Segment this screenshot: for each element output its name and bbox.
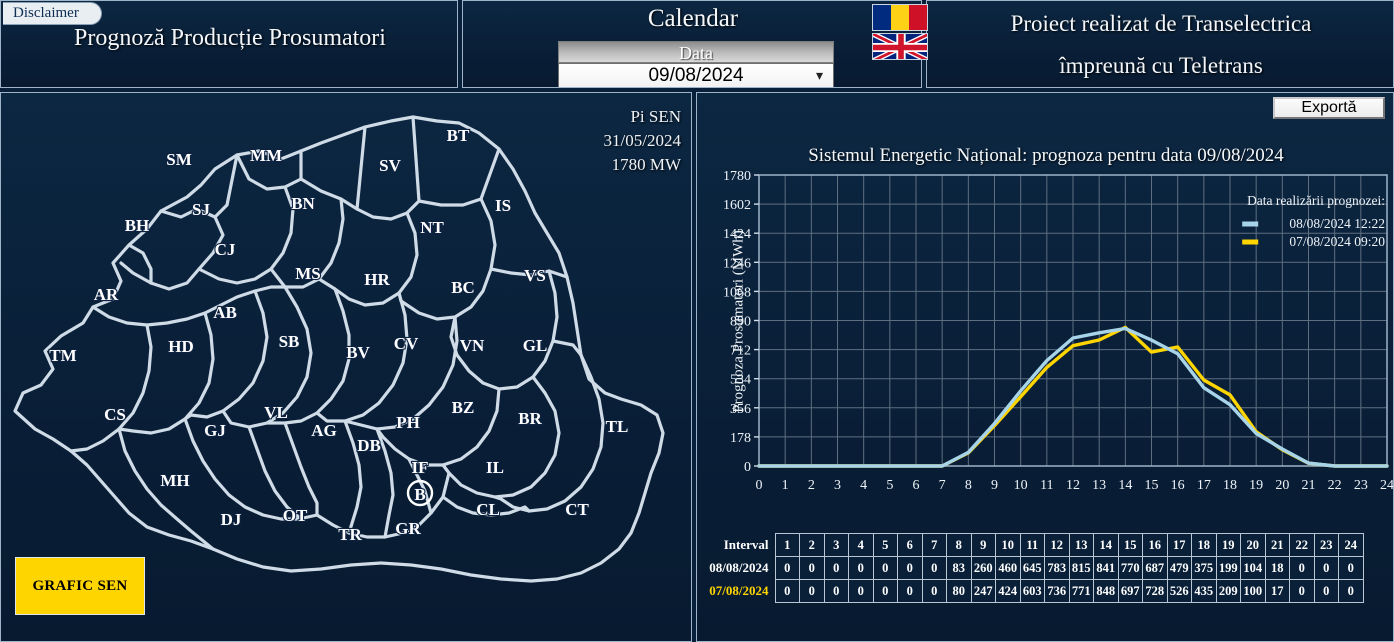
table-cell-23: 0	[1314, 580, 1339, 603]
y-tick-1602: 1602	[723, 198, 751, 213]
x-tick-1: 1	[782, 478, 789, 493]
x-tick-14: 14	[1118, 478, 1132, 493]
table-col-header-24: 24	[1339, 534, 1364, 557]
table-cell-8: 80	[947, 580, 972, 603]
y-tick-0: 0	[744, 460, 751, 475]
table-col-header-6: 6	[898, 534, 923, 557]
x-tick-5: 5	[886, 478, 893, 493]
x-tick-7: 7	[939, 478, 946, 493]
x-tick-2: 2	[808, 478, 815, 493]
table-cell-24: 0	[1339, 557, 1364, 580]
county-label-hr[interactable]: HR	[364, 270, 390, 289]
table-cell-3: 0	[824, 557, 849, 580]
county-label-ot[interactable]: OT	[283, 506, 308, 525]
table-cell-13: 815	[1069, 557, 1094, 580]
y-tick-1068: 1068	[723, 285, 751, 300]
disclaimer-tab[interactable]: Disclaimer	[3, 2, 102, 25]
county-label-bh[interactable]: BH	[125, 216, 150, 235]
chart-panel: Exportă Sistemul Energetic Național: pro…	[696, 92, 1394, 642]
county-label-cv[interactable]: CV	[394, 334, 419, 353]
table-cell-10: 424	[996, 580, 1021, 603]
project-credit-line2: împreună cu Teletrans	[927, 53, 1394, 79]
table-col-header-15: 15	[1118, 534, 1143, 557]
county-label-dj[interactable]: DJ	[221, 510, 242, 529]
table-cell-18: 435	[1192, 580, 1217, 603]
table-cell-8: 83	[947, 557, 972, 580]
table-cell-14: 848	[1094, 580, 1119, 603]
table-cell-14: 841	[1094, 557, 1119, 580]
y-tick-1424: 1424	[723, 227, 751, 242]
x-tick-13: 13	[1092, 478, 1106, 493]
county-label-vn[interactable]: VN	[460, 336, 485, 355]
forecast-data-table-wrapper: Interval 1234567891011121314151617181920…	[705, 533, 1391, 603]
table-cell-5: 0	[873, 580, 898, 603]
county-label-br[interactable]: BR	[518, 409, 542, 428]
table-cell-18: 375	[1192, 557, 1217, 580]
table-col-header-16: 16	[1143, 534, 1168, 557]
county-label-group: SMMMBTSVSJBNISBHCJNTMSHRBCVSARABSBCVVNGL…	[49, 126, 628, 544]
table-col-header-10: 10	[996, 534, 1021, 557]
county-label-if[interactable]: IF	[412, 458, 429, 477]
table-col-header-1: 1	[775, 534, 800, 557]
table-cell-4: 0	[849, 557, 874, 580]
table-cell-19: 199	[1216, 557, 1241, 580]
table-cell-21: 18	[1265, 557, 1290, 580]
date-select[interactable]: 09/08/2024 ▾	[558, 63, 834, 88]
county-label-sb[interactable]: SB	[279, 332, 300, 351]
table-cell-22: 0	[1290, 557, 1315, 580]
county-label-sv[interactable]: SV	[379, 156, 401, 175]
table-col-header-8: 8	[947, 534, 972, 557]
county-label-vl[interactable]: VL	[264, 403, 288, 422]
county-label-bn[interactable]: BN	[291, 194, 315, 213]
table-cell-6: 0	[898, 580, 923, 603]
bucharest-label: B	[414, 485, 425, 504]
header-left-panel: Disclaimer Prognoză Producție Prosumator…	[0, 0, 458, 88]
county-label-tr[interactable]: TR	[338, 525, 362, 544]
county-label-cj[interactable]: CJ	[215, 240, 236, 259]
county-label-gl[interactable]: GL	[523, 336, 548, 355]
county-label-nt[interactable]: NT	[420, 218, 444, 237]
table-col-header-19: 19	[1216, 534, 1241, 557]
x-tick-3: 3	[834, 478, 841, 493]
y-tick-356: 356	[730, 402, 751, 417]
y-tick-534: 534	[730, 373, 751, 388]
y-tick-890: 890	[730, 315, 751, 330]
county-label-hd[interactable]: HD	[168, 337, 194, 356]
table-cell-3: 0	[824, 580, 849, 603]
map-panel: B SMMMBTSVSJBNISBHCJNTMSHRBCVSARABSBCVVN…	[0, 92, 692, 642]
pi-sen-value: 1780 MW	[604, 153, 681, 177]
x-tick-10: 10	[1014, 478, 1028, 493]
y-tick-1246: 1246	[723, 256, 751, 271]
county-label-ct[interactable]: CT	[565, 500, 589, 519]
x-tick-24: 24	[1380, 478, 1394, 493]
county-label-sj[interactable]: SJ	[192, 200, 210, 219]
table-col-header-3: 3	[824, 534, 849, 557]
page-title: Prognoză Producție Prosumatori	[1, 25, 458, 52]
table-cell-11: 603	[1020, 580, 1045, 603]
table-cell-4: 0	[849, 580, 874, 603]
x-tick-12: 12	[1066, 478, 1080, 493]
table-cell-11: 645	[1020, 557, 1045, 580]
x-tick-21: 21	[1302, 478, 1316, 493]
table-cell-9: 247	[971, 580, 996, 603]
county-label-tl[interactable]: TL	[606, 417, 629, 436]
county-label-tm[interactable]: TM	[49, 346, 76, 365]
table-cell-9: 260	[971, 557, 996, 580]
table-cell-17: 479	[1167, 557, 1192, 580]
table-col-header-9: 9	[971, 534, 996, 557]
table-cell-23: 0	[1314, 557, 1339, 580]
project-credit-line1: Proiect realizat de Transelectrica	[927, 11, 1394, 37]
table-cell-2: 0	[800, 580, 825, 603]
legend-label-1: 07/08/2024 09:20	[1289, 234, 1385, 249]
y-tick-712: 712	[730, 344, 751, 359]
table-cell-20: 100	[1241, 580, 1266, 603]
x-tick-4: 4	[860, 478, 867, 493]
table-col-header-23: 23	[1314, 534, 1339, 557]
table-cell-1: 0	[775, 557, 800, 580]
table-col-header-7: 7	[922, 534, 947, 557]
calendar-panel: Calendar Data 09/08/2024 ▾	[462, 0, 922, 88]
header-bar: Disclaimer Prognoză Producție Prosumator…	[0, 0, 1394, 90]
legend-title: Data realizării prognozei:	[1247, 193, 1385, 208]
table-cell-15: 697	[1118, 580, 1143, 603]
table-col-header-14: 14	[1094, 534, 1119, 557]
date-field-label: Data	[558, 41, 834, 63]
x-tick-0: 0	[756, 478, 763, 493]
table-col-header-2: 2	[800, 534, 825, 557]
table-cell-7: 0	[922, 557, 947, 580]
legend-label-0: 08/08/2024 12:22	[1289, 216, 1385, 231]
x-tick-23: 23	[1354, 478, 1368, 493]
county-label-sm[interactable]: SM	[166, 150, 192, 169]
chart-legend: Data realizării prognozei:08/08/2024 12:…	[1242, 193, 1385, 249]
table-row-label: 08/08/2024	[705, 557, 775, 580]
table-cell-21: 17	[1265, 580, 1290, 603]
county-label-bz[interactable]: BZ	[452, 398, 475, 417]
table-col-header-12: 12	[1045, 534, 1070, 557]
forecast-line-chart[interactable]: 017835653471289010681246142416021780 012…	[697, 93, 1394, 533]
table-row: 08/08/2024000000083260460645783815841770…	[705, 557, 1363, 580]
date-select-value: 09/08/2024	[648, 65, 743, 87]
table-cell-15: 770	[1118, 557, 1143, 580]
table-header-row: Interval 1234567891011121314151617181920…	[705, 534, 1363, 557]
x-tick-19: 19	[1249, 478, 1263, 493]
county-label-cl[interactable]: CL	[476, 500, 500, 519]
chart-x-ticks: 0123456789101112131415161718192021222324	[756, 478, 1394, 493]
table-cell-12: 736	[1045, 580, 1070, 603]
table-cell-2: 0	[800, 557, 825, 580]
x-tick-11: 11	[1040, 478, 1053, 493]
table-col-header-18: 18	[1192, 534, 1217, 557]
table-cell-24: 0	[1339, 580, 1364, 603]
county-label-ar[interactable]: AR	[94, 285, 119, 304]
table-corner-label: Interval	[705, 534, 775, 557]
table-col-header-17: 17	[1167, 534, 1192, 557]
table-cell-5: 0	[873, 557, 898, 580]
table-cell-13: 771	[1069, 580, 1094, 603]
table-col-header-11: 11	[1020, 534, 1045, 557]
table-row-label: 07/08/2024	[705, 580, 775, 603]
table-col-header-4: 4	[849, 534, 874, 557]
county-label-mh[interactable]: MH	[160, 471, 189, 490]
chevron-down-icon: ▾	[816, 67, 823, 84]
county-label-ag[interactable]: AG	[311, 421, 337, 440]
table-cell-12: 783	[1045, 557, 1070, 580]
county-label-ab[interactable]: AB	[213, 303, 237, 322]
x-tick-9: 9	[991, 478, 998, 493]
county-label-bt[interactable]: BT	[447, 126, 470, 145]
application-root: Disclaimer Prognoză Producție Prosumator…	[0, 0, 1394, 642]
table-col-header-20: 20	[1241, 534, 1266, 557]
pi-sen-label: Pi SEN	[604, 105, 681, 129]
county-label-mm[interactable]: MM	[250, 146, 282, 165]
county-label-is[interactable]: IS	[495, 196, 511, 215]
table-cell-19: 209	[1216, 580, 1241, 603]
table-cell-17: 526	[1167, 580, 1192, 603]
county-label-db[interactable]: DB	[357, 436, 381, 455]
x-tick-20: 20	[1275, 478, 1289, 493]
table-cell-10: 460	[996, 557, 1021, 580]
x-tick-8: 8	[965, 478, 972, 493]
county-label-ms[interactable]: MS	[295, 264, 321, 283]
table-body: 08/08/2024000000083260460645783815841770…	[705, 557, 1363, 603]
table-col-header-21: 21	[1265, 534, 1290, 557]
date-selector: Data 09/08/2024 ▾	[558, 41, 834, 88]
county-label-bc[interactable]: BC	[451, 278, 475, 297]
table-cell-16: 728	[1143, 580, 1168, 603]
x-tick-15: 15	[1145, 478, 1159, 493]
county-label-ph[interactable]: PH	[396, 413, 420, 432]
county-label-cs[interactable]: CS	[104, 405, 126, 424]
pi-sen-info: Pi SEN 31/05/2024 1780 MW	[604, 105, 681, 177]
table-cell-22: 0	[1290, 580, 1315, 603]
table-row: 07/08/2024000000080247424603736771848697…	[705, 580, 1363, 603]
table-cell-1: 0	[775, 580, 800, 603]
united-kingdom-flag-icon[interactable]	[872, 33, 928, 60]
chart-y-ticks: 017835653471289010681246142416021780	[723, 169, 759, 475]
x-tick-17: 17	[1197, 478, 1211, 493]
county-label-bv[interactable]: BV	[346, 343, 370, 362]
grafic-sen-button[interactable]: GRAFIC SEN	[15, 557, 145, 615]
forecast-data-table: Interval 1234567891011121314151617181920…	[705, 533, 1364, 603]
language-flags	[872, 4, 928, 60]
header-right-panel: Proiect realizat de Transelectrica împre…	[926, 0, 1394, 88]
table-cell-20: 104	[1241, 557, 1266, 580]
bucharest-marker[interactable]: B	[408, 481, 432, 505]
table-cell-7: 0	[922, 580, 947, 603]
y-tick-1780: 1780	[723, 169, 751, 184]
county-label-gj[interactable]: GJ	[204, 421, 226, 440]
x-tick-6: 6	[913, 478, 920, 493]
county-label-vs[interactable]: VS	[524, 266, 546, 285]
table-cell-16: 687	[1143, 557, 1168, 580]
pi-sen-date: 31/05/2024	[604, 129, 681, 153]
county-label-il[interactable]: IL	[486, 458, 504, 477]
table-col-header-13: 13	[1069, 534, 1094, 557]
x-tick-18: 18	[1223, 478, 1237, 493]
x-tick-16: 16	[1171, 478, 1185, 493]
table-col-header-5: 5	[873, 534, 898, 557]
calendar-label: Calendar	[463, 5, 922, 33]
y-tick-178: 178	[730, 431, 751, 446]
table-col-header-22: 22	[1290, 534, 1315, 557]
table-cell-6: 0	[898, 557, 923, 580]
x-tick-22: 22	[1328, 478, 1342, 493]
county-label-gr[interactable]: GR	[395, 519, 421, 538]
romania-flag-icon[interactable]	[872, 4, 928, 31]
